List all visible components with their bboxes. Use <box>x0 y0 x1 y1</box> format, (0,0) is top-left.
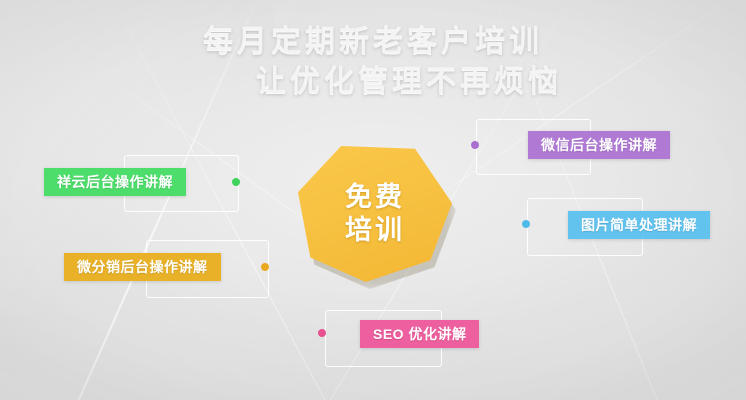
training-poster: 每月定期新老客户培训 让优化管理不再烦恼 免费 培训 祥云后台操作讲解 微分销后… <box>0 0 746 400</box>
center-hexagon: 免费 培训 <box>298 146 452 282</box>
node-connector-dot <box>232 178 240 186</box>
node-connector-dot <box>471 141 479 149</box>
node-connector-dot <box>318 329 326 337</box>
node-label[interactable]: 微分销后台操作讲解 <box>64 253 221 281</box>
headline-line-2: 让优化管理不再烦恼 <box>0 62 746 102</box>
hexagon-label-line-2: 培训 <box>345 214 405 247</box>
node-connector-dot <box>261 263 269 271</box>
hexagon-label-line-1: 免费 <box>345 181 405 214</box>
node-label[interactable]: 图片简单处理讲解 <box>568 211 710 239</box>
headline: 每月定期新老客户培训 让优化管理不再烦恼 <box>0 22 746 102</box>
node-label[interactable]: SEO 优化讲解 <box>360 320 479 348</box>
headline-line-1: 每月定期新老客户培训 <box>0 22 746 62</box>
node-label[interactable]: 祥云后台操作讲解 <box>44 168 186 196</box>
node-connector-dot <box>522 220 530 228</box>
node-label[interactable]: 微信后台操作讲解 <box>528 131 670 159</box>
